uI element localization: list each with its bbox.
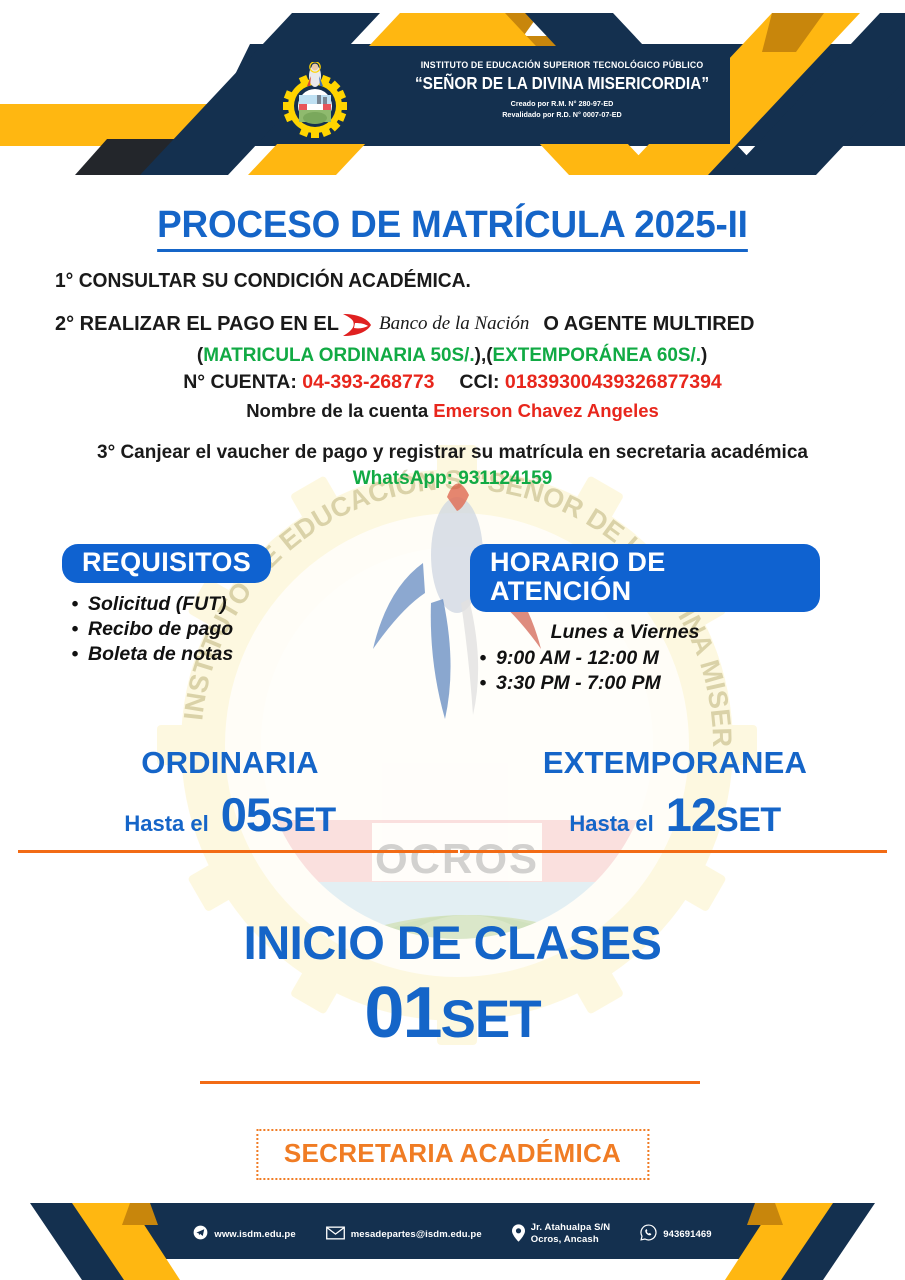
ordinaria-day: 05 xyxy=(221,788,271,841)
requisitos-panel: REQUISITOS •Solicitud (FUT) •Recibo de p… xyxy=(62,544,392,666)
steps-section: 1° CONSULTAR SU CONDICIÓN ACADÉMICA. 2° … xyxy=(0,270,905,490)
horario-heading: HORARIO DE ATENCIÓN xyxy=(470,544,820,612)
resolution-created-line: Creado por R.M. N° 280-97-ED xyxy=(363,98,762,109)
account-holder-label: Nombre de la cuenta xyxy=(246,400,428,421)
ordinaria-month: SET xyxy=(271,801,336,839)
ocros-institute-seal-icon xyxy=(277,62,353,138)
list-item: •9:00 AM - 12:00 M xyxy=(470,646,820,671)
step-2-row: 2° REALIZAR EL PAGO EN EL Banco de la Na… xyxy=(55,311,905,337)
page-title: PROCESO DE MATRÍCULA 2025-II xyxy=(157,204,748,252)
step-2-prefix: 2° REALIZAR EL PAGO EN EL xyxy=(55,313,339,336)
secretaria-academica-box: SECRETARIA ACADÉMICA xyxy=(256,1129,649,1180)
horario-panel: HORARIO DE ATENCIÓN Lunes a Viernes •9:0… xyxy=(470,544,820,696)
payment-details: (MATRICULA ORDINARIA 50S/.),(EXTEMPORÁNE… xyxy=(0,343,905,425)
ordinaria-title: ORDINARIA xyxy=(20,745,440,781)
horario-list: •9:00 AM - 12:00 M •3:30 PM - 7:00 PM xyxy=(470,646,820,696)
divider-extemporanea xyxy=(460,850,887,853)
footer-address-line-2: Ocros, Ancash xyxy=(531,1234,610,1246)
extemporanea-prefix: Hasta el xyxy=(569,811,653,837)
ordinaria-prefix: Hasta el xyxy=(124,811,208,837)
cci-label: CCI: xyxy=(459,371,499,393)
watermark-crest-label: OCROS xyxy=(375,835,539,882)
requisitos-list: •Solicitud (FUT) •Recibo de pago •Boleta… xyxy=(62,592,392,666)
map-pin-icon xyxy=(512,1224,525,1245)
bank-name: Banco de la Nación xyxy=(379,313,543,335)
requisito-text: Solicitud (FUT) xyxy=(88,593,227,615)
cci-number: 01839300439326877394 xyxy=(505,371,722,393)
secretaria-academica-label: SECRETARIA ACADÉMICA xyxy=(284,1138,621,1169)
footer-website[interactable]: www.isdm.edu.pe xyxy=(193,1225,295,1243)
list-item: •Recibo de pago xyxy=(62,617,392,642)
institute-name-line: “SEÑOR DE LA DIVINA MISERICORDIA” xyxy=(377,73,747,94)
inicio-day: 01 xyxy=(364,973,440,1053)
institute-type-line: INSTITUTO DE EDUCACIÓN SUPERIOR TECNOLÓG… xyxy=(369,60,755,71)
whatsapp-icon xyxy=(640,1224,657,1244)
telegram-send-icon xyxy=(193,1225,208,1243)
footer-email-text: mesadepartes@isdm.edu.pe xyxy=(351,1229,482,1240)
ordinaria-block: ORDINARIA Hasta el 05SET xyxy=(20,745,440,842)
resolution-revalidated-line: Revalidado por R.D. N° 0007-07-ED xyxy=(363,109,762,120)
inicio-title: INICIO DE CLASES xyxy=(0,915,905,970)
fees-mid-paren: ),( xyxy=(475,344,493,366)
footer-email[interactable]: mesadepartes@isdm.edu.pe xyxy=(326,1226,482,1243)
requisito-text: Boleta de notas xyxy=(88,643,233,665)
envelope-icon xyxy=(326,1226,345,1243)
extemporanea-title: EXTEMPORANEA xyxy=(465,745,885,781)
horario-days: Lunes a Viernes xyxy=(470,621,820,644)
account-label: N° CUENTA: xyxy=(183,371,297,393)
horario-text: 3:30 PM - 7:00 PM xyxy=(496,672,661,694)
horario-text: 9:00 AM - 12:00 M xyxy=(496,647,659,669)
fee-ordinaria: MATRICULA ORDINARIA 50S/. xyxy=(204,344,475,366)
list-item: •Solicitud (FUT) xyxy=(62,592,392,617)
account-number: 04-393-268773 xyxy=(302,371,434,393)
inicio-clases-section: INICIO DE CLASES 01SET xyxy=(0,915,905,1054)
inicio-month: SET xyxy=(441,990,541,1049)
account-holder-name: Emerson Chavez Angeles xyxy=(433,400,659,421)
footer-phone-text: 943691469 xyxy=(663,1229,711,1240)
fees-close-paren: ) xyxy=(701,344,707,366)
poster-root: INSTITUTO DE EDUCACIÓN SUPERIOR TECNOLÓG… xyxy=(0,0,905,1280)
extemporanea-month: SET xyxy=(716,801,781,839)
requisitos-heading: REQUISITOS xyxy=(62,544,271,583)
banco-de-la-nacion-icon xyxy=(341,312,375,338)
fee-extemporanea: EXTEMPORÁNEA 60S/. xyxy=(493,344,701,366)
divider-inicio xyxy=(200,1081,700,1084)
footer-website-text: www.isdm.edu.pe xyxy=(214,1229,295,1240)
step-2-suffix: O AGENTE MULTIRED xyxy=(543,313,754,336)
step-1-text: 1° CONSULTAR SU CONDICIÓN ACADÉMICA. xyxy=(55,270,871,293)
whatsapp-contact: WhatsApp: 931124159 xyxy=(0,468,905,490)
header-titles: INSTITUTO DE EDUCACIÓN SUPERIOR TECNOLÓG… xyxy=(352,60,772,120)
footer-phone[interactable]: 943691469 xyxy=(640,1224,711,1244)
list-item: •Boleta de notas xyxy=(62,642,392,667)
footer-contacts: www.isdm.edu.pe mesadepartes@isdm.edu.pe… xyxy=(0,1216,905,1252)
footer-address-line-1: Jr. Atahualpa S/N xyxy=(531,1222,610,1234)
list-item: •3:30 PM - 7:00 PM xyxy=(470,671,820,696)
divider-ordinaria xyxy=(18,850,458,853)
footer-address: Jr. Atahualpa S/N Ocros, Ancash xyxy=(512,1222,610,1246)
page-title-container: PROCESO DE MATRÍCULA 2025-II xyxy=(0,204,905,252)
extemporanea-block: EXTEMPORANEA Hasta el 12SET xyxy=(465,745,885,842)
step-3-text: 3° Canjear el vaucher de pago y registra… xyxy=(0,442,905,464)
extemporanea-day: 12 xyxy=(666,788,716,841)
requisito-text: Recibo de pago xyxy=(88,618,233,640)
